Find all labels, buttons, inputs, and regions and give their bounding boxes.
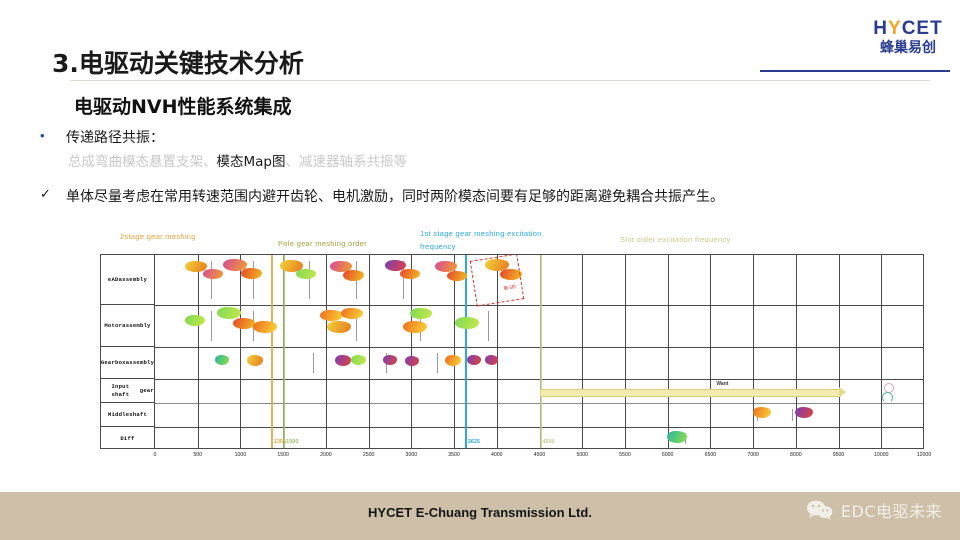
row-label-line: Middle <box>108 411 129 419</box>
subtext-part-a: 总成弯曲模态悬置支架、 <box>68 154 217 170</box>
footer-bar: HYCET E-Chuang Transmission Ltd. EDC电驱未来 <box>0 492 960 540</box>
x-tick-1500: 1500 <box>277 452 289 458</box>
mode-shape-thumbnail <box>405 356 419 366</box>
gridline-5500 <box>625 255 626 448</box>
row-label-0: eADassembly <box>101 255 154 305</box>
row-label-1: Motorassembly <box>101 305 154 347</box>
slide-root: HYCET 蜂巢易创 3.电驱动关键技术分析 电驱动NVH性能系统集成 • 传递… <box>0 0 960 540</box>
mode-shape-thumbnail <box>327 321 351 333</box>
x-axis: 0500100015002000250030003500400045005000… <box>155 452 924 468</box>
row-label-2: Gearboxassembly <box>101 347 154 379</box>
mode-tick <box>309 261 310 299</box>
logo-divider <box>760 70 950 72</box>
mode-tick <box>211 261 212 299</box>
subtext-part-b: 模态Map图 <box>217 154 286 170</box>
x-tick-1000: 1000 <box>235 452 247 458</box>
mode-shape-thumbnail <box>335 355 351 366</box>
mode-shape-thumbnail <box>320 310 343 321</box>
marker-label-3625: 3625 <box>468 439 480 445</box>
gridline-6500 <box>710 255 711 448</box>
want-range-bar <box>540 389 841 397</box>
x-tick-500: 500 <box>193 452 202 458</box>
mode-tick <box>211 311 212 341</box>
row-label-line: gear <box>140 387 154 395</box>
marker-line-3625 <box>465 255 467 448</box>
x-tick-5000: 5000 <box>576 452 588 458</box>
mode-shape-thumbnail <box>215 355 229 365</box>
x-tick-7000: 7000 <box>747 452 759 458</box>
row-label-line: assembly <box>126 359 154 367</box>
logo-chinese-name: 蜂巢易创 <box>868 40 948 57</box>
row-label-line: Motor <box>104 322 122 330</box>
bullet-marker-1: • <box>40 128 45 143</box>
marker-line-4500 <box>540 255 542 448</box>
row-label-line: assembly <box>122 322 150 330</box>
mode-shape-thumbnail <box>403 321 427 333</box>
gridline-3500 <box>454 255 455 448</box>
mode-shape-thumbnail <box>341 308 363 319</box>
callout-label: 第 5阶 <box>503 284 517 292</box>
logo-letters-cet: CET <box>902 18 943 39</box>
want-label: Want <box>716 381 728 387</box>
hycet-logo: HYCET 蜂巢易创 <box>868 18 948 64</box>
marker-label-4500: 4500 <box>543 439 555 445</box>
mode-shape-thumbnail <box>253 321 277 333</box>
marker-line-1355 <box>271 255 273 448</box>
mode-shape-thumbnail <box>445 355 461 366</box>
gridline-5000 <box>582 255 583 448</box>
x-tick-4500: 4500 <box>534 452 546 458</box>
mode-tick <box>313 353 314 373</box>
gridline-2500 <box>369 255 370 448</box>
gridline-2000 <box>326 255 327 448</box>
mode-tick <box>488 311 489 341</box>
mode-shape-thumbnail <box>455 317 479 329</box>
row-label-3: Input shaftgear <box>101 379 154 403</box>
wechat-label: EDC电驱未来 <box>841 498 942 522</box>
x-tick-3000: 3000 <box>406 452 418 458</box>
wechat-badge: EDC电驱未来 <box>806 498 942 522</box>
mode-shape-thumbnail <box>296 269 316 279</box>
gridline-8000 <box>796 255 797 448</box>
bullet-text-2: 单体尽量考虑在常用转速范围内避开齿轮、电机激励，同时两阶模态间要有足够的距离避免… <box>66 186 724 206</box>
marker-circle-teal <box>882 392 893 403</box>
annotation-slot-order-excitation: Slot order excitation frequency <box>620 235 731 244</box>
mode-shape-thumbnail <box>185 315 205 326</box>
wechat-icon <box>806 499 834 521</box>
x-tick-9500: 9500 <box>833 452 845 458</box>
row-label-column: eADassemblyMotorassemblyGearboxassemblyI… <box>100 254 155 449</box>
row-label-line: assembly <box>119 276 147 284</box>
x-tick-12000: 12000 <box>917 452 931 458</box>
bullet-text-1: 传递路径共振： <box>66 127 164 147</box>
logo-letter-y: Y <box>888 18 902 39</box>
x-tick-6000: 6000 <box>662 452 674 458</box>
mode-shape-thumbnail <box>203 269 223 279</box>
row-label-4: Middleshaft <box>101 403 154 427</box>
bullet-subtext-1: 总成弯曲模态悬置支架、模态Map图、减速器轴系共振等 <box>68 150 407 170</box>
gridline-9500 <box>839 255 840 448</box>
logo-letter-h: H <box>873 18 888 39</box>
x-tick-4000: 4000 <box>491 452 503 458</box>
x-tick-3500: 3500 <box>448 452 460 458</box>
gridline-500 <box>198 255 199 448</box>
gridline-3000 <box>411 255 412 448</box>
mode-shape-thumbnail <box>447 271 467 281</box>
bullet-marker-2: ✓ <box>40 186 51 202</box>
mode-map-chart: 2stage gear meshing Pole gear meshing or… <box>100 228 924 474</box>
mode-tick <box>437 353 438 373</box>
row-label-line: Diff <box>120 435 134 443</box>
marker-label-1500: 1500 <box>286 439 298 445</box>
row-label-line: Input shaft <box>101 383 140 399</box>
mode-shape-thumbnail <box>667 431 687 443</box>
mode-shape-thumbnail <box>753 407 771 418</box>
gridline-10000 <box>881 255 882 448</box>
gridline-6000 <box>668 255 669 448</box>
mode-shape-thumbnail <box>217 307 241 319</box>
page-subtitle: 电驱动NVH性能系统集成 <box>74 92 292 119</box>
marker-line-1500 <box>283 255 285 448</box>
mode-shape-thumbnail <box>467 355 481 365</box>
want-arrow-tip <box>839 387 846 397</box>
x-tick-0: 0 <box>154 452 157 458</box>
mode-shape-thumbnail <box>485 355 498 365</box>
x-tick-5500: 5500 <box>619 452 631 458</box>
title-divider <box>70 80 930 81</box>
gridline-7000 <box>753 255 754 448</box>
annotation-1st-stage-gear-meshing: 1st stage gear meshing excitation freque… <box>420 227 570 253</box>
mode-shape-thumbnail <box>410 308 432 319</box>
mode-shape-thumbnail <box>351 355 366 365</box>
mode-shape-thumbnail <box>233 318 255 329</box>
mode-shape-thumbnail <box>795 407 813 418</box>
mode-shape-thumbnail <box>247 355 263 366</box>
row-label-line: shaft <box>129 411 147 419</box>
mode-tick <box>253 261 254 299</box>
chart-grid: eADassemblyMotorassemblyGearboxassemblyI… <box>100 254 924 449</box>
logo-wordmark: HYCET <box>868 18 948 40</box>
x-tick-8000: 8000 <box>790 452 802 458</box>
annotation-2stage-gear-meshing: 2stage gear meshing <box>120 232 196 241</box>
mode-shape-thumbnail <box>241 268 262 279</box>
x-tick-2000: 2000 <box>320 452 332 458</box>
gridline-1000 <box>240 255 241 448</box>
row-label-line: Gearbox <box>101 359 126 367</box>
row-label-line: eAD <box>108 276 119 284</box>
mode-shape-thumbnail <box>400 269 420 279</box>
mode-shape-thumbnail <box>383 355 397 365</box>
annotation-pole-gear-meshing-order: Pole gear meshing order <box>278 239 367 248</box>
plot-area: 1355150036254500第 5阶Want <box>155 254 924 449</box>
page-title: 3.电驱动关键技术分析 <box>52 44 304 80</box>
callout-box: 第 5阶 <box>470 254 525 306</box>
x-tick-6500: 6500 <box>705 452 717 458</box>
x-tick-2500: 2500 <box>363 452 375 458</box>
row-label-5: Diff <box>101 427 154 450</box>
subtext-part-c: 、减速器轴系共振等 <box>286 154 408 170</box>
mode-tick <box>792 409 793 421</box>
x-tick-10000: 10000 <box>874 452 888 458</box>
mode-shape-thumbnail <box>343 270 364 281</box>
